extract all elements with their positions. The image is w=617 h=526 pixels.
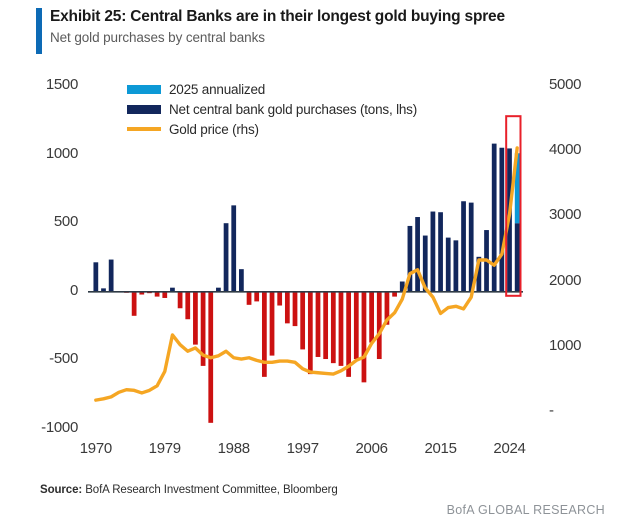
chart-legend: 2025 annualized Net central bank gold pu…	[127, 80, 417, 140]
bar-2019	[469, 203, 474, 292]
bar-2023	[499, 148, 504, 292]
bar-1993	[270, 292, 275, 356]
bar-2005	[362, 292, 367, 383]
brand-footer: BofA GLOBAL RESEARCH	[447, 503, 605, 517]
legend-label-annualized: 2025 annualized	[169, 82, 265, 97]
y2-axis-tick-3000: 3000	[549, 206, 609, 223]
legend-item-purchases: Net central bank gold purchases (tons, l…	[127, 100, 417, 118]
bar-1996	[293, 292, 298, 326]
y2-axis-tick-1000: 1000	[549, 337, 609, 354]
legend-item-annualized: 2025 annualized	[127, 80, 417, 98]
bar-2015	[438, 212, 443, 292]
bar-1995	[285, 292, 290, 324]
x-axis-tick-1988: 1988	[205, 440, 263, 457]
bar-1997	[300, 292, 305, 350]
x-axis-tick-1997: 1997	[274, 440, 332, 457]
bar-1999	[316, 292, 321, 357]
x-axis-tick-1970: 1970	[67, 440, 125, 457]
bar-1990	[247, 292, 252, 305]
y2-axis-tick--: -	[549, 402, 609, 419]
legend-label-goldprice: Gold price (rhs)	[169, 122, 259, 137]
bar-1970	[93, 262, 98, 292]
x-axis-tick-2024: 2024	[481, 440, 539, 457]
legend-swatch-purchases	[127, 105, 161, 114]
legend-item-goldprice: Gold price (rhs)	[127, 120, 417, 138]
bar-2022	[492, 144, 497, 292]
bar-2018	[461, 201, 466, 292]
title-accent-bar	[36, 8, 42, 54]
y-axis-tick-1500: 1500	[22, 76, 78, 93]
bar-1998	[308, 292, 313, 374]
bar-2014	[431, 212, 436, 292]
y2-axis-tick-2000: 2000	[549, 272, 609, 289]
source-label: Source:	[40, 484, 82, 496]
bar-2025	[515, 223, 520, 292]
page-subtitle: Net gold purchases by central banks	[50, 30, 590, 45]
bar-1972	[109, 260, 114, 292]
legend-line-goldprice	[127, 127, 161, 131]
source-note: Source: BofA Research Investment Committ…	[40, 484, 338, 496]
bar-1988	[231, 205, 236, 291]
bar-2012	[415, 217, 420, 292]
y2-axis-tick-5000: 5000	[549, 76, 609, 93]
y-axis-tick-1000: 1000	[22, 145, 78, 162]
bar-1982	[185, 292, 190, 319]
bar-2007	[377, 292, 382, 359]
y2-axis-tick-4000: 4000	[549, 141, 609, 158]
bar-1994	[277, 292, 282, 306]
bar-2000	[323, 292, 328, 359]
bar-1981	[178, 292, 183, 308]
legend-label-purchases: Net central bank gold purchases (tons, l…	[169, 102, 417, 117]
legend-swatch-annualized	[127, 85, 161, 94]
bar-1992	[262, 292, 267, 377]
bar-1989	[239, 269, 244, 292]
y-axis-tick-0: 0	[22, 282, 78, 299]
y-axis-tick-neg500: -500	[22, 350, 78, 367]
bar-1975	[132, 292, 137, 316]
page-title: Exhibit 25: Central Banks are in their l…	[50, 8, 590, 26]
bar-2016	[446, 238, 451, 292]
x-axis-tick-2006: 2006	[343, 440, 401, 457]
bar-1983	[193, 292, 198, 345]
bar-2004	[354, 292, 359, 359]
bar-1991	[254, 292, 259, 302]
bar-2002	[339, 292, 344, 366]
chart-header: Exhibit 25: Central Banks are in their l…	[0, 0, 617, 62]
bar-2017	[454, 240, 459, 291]
x-axis-tick-2015: 2015	[412, 440, 470, 457]
bar-2001	[331, 292, 336, 363]
x-axis-tick-1979: 1979	[136, 440, 194, 457]
bar-2006	[369, 292, 374, 343]
y-axis-tick-500: 500	[22, 213, 78, 230]
y-axis-tick-neg1000: -1000	[22, 419, 78, 436]
bar-1987	[224, 223, 229, 292]
source-text: BofA Research Investment Committee, Bloo…	[82, 484, 338, 496]
bar-1979	[162, 292, 167, 298]
